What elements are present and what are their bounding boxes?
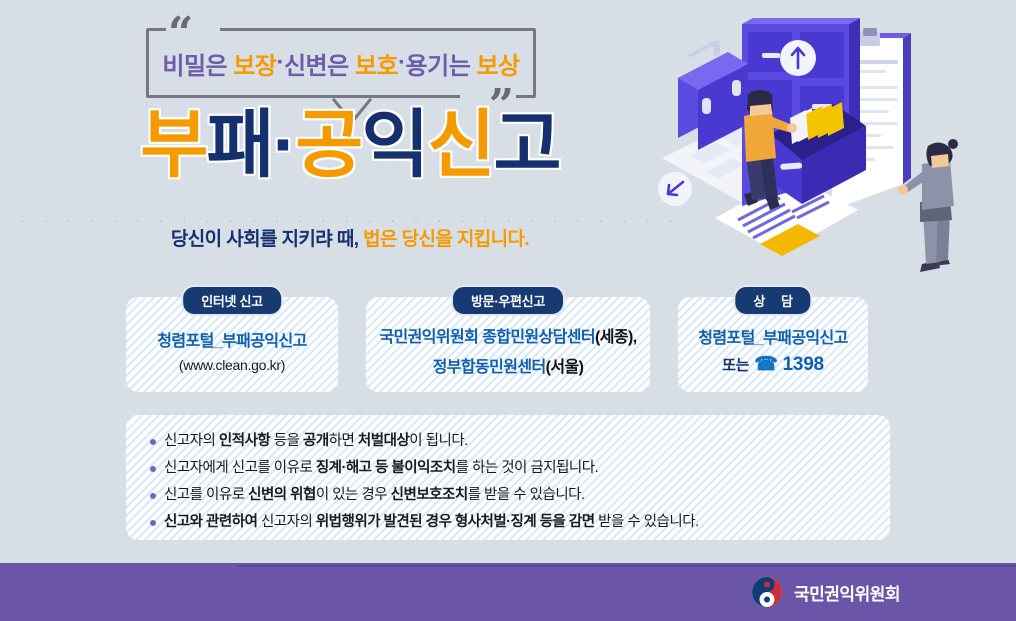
quote-part-7: 보상: [476, 46, 519, 81]
quote-part-5: ·: [398, 49, 406, 77]
quote-part-4: 보호: [355, 46, 398, 81]
card-visit-center-sejong-blue: 국민권익위원회 종합민원상담센터: [379, 329, 595, 346]
notice-panel: 신고자의 인적사항 등을 공개하면 처벌대상이 됩니다. 신고자에게 신고를 이…: [126, 415, 890, 540]
list-item: 신고자에게 신고를 이유로 징계·해고 등 불이익조치를 하는 것이 금지됩니다…: [150, 458, 890, 479]
down-left-arrow-badge-icon: [658, 172, 692, 206]
telephone-icon: ☎: [754, 355, 777, 374]
title-seg-2: ·: [273, 103, 296, 186]
bullet-dot-icon: [150, 466, 156, 472]
quote-part-0: 비밀은: [162, 46, 227, 81]
card-consultation-tel-prefix: 또는: [722, 354, 749, 375]
footer-brand-name: 국민권익위원회: [794, 580, 900, 605]
card-internet-url[interactable]: (www.clean.go.kr): [179, 357, 285, 373]
notice-text-0: 신고자의 인적사항 등을 공개하면 처벌대상이 됩니다.: [164, 431, 468, 452]
list-item: 신고를 이유로 신변의 위협이 있는 경우 신변보호조치를 받을 수 있습니다.: [150, 485, 890, 506]
quote-part-2: ·: [276, 49, 284, 77]
card-internet-report[interactable]: 인터넷 신고 청렴포털_부패공익신고 (www.clean.go.kr): [126, 297, 338, 392]
card-body-consultation: 청렴포털_부패공익신고 또는 ☎ 1398: [678, 297, 868, 392]
card-visit-center-sejong: 국민권익위원회 종합민원상담센터(세종),: [379, 323, 636, 347]
card-internet-portal-name[interactable]: 청렴포털_부패공익신고: [157, 327, 307, 351]
card-body-internet: 청렴포털_부패공익신고 (www.clean.go.kr): [126, 297, 338, 392]
title-seg-1: 패: [206, 103, 272, 186]
card-visit-mail-report[interactable]: 방문·우편신고 국민권익위원회 종합민원상담센터(세종), 정부합동민원센터(서…: [366, 297, 650, 392]
footer-divider: [237, 565, 1016, 567]
taegeuk-logo-icon: [751, 576, 783, 608]
quote-part-6: 용기는: [406, 46, 471, 81]
infographic-canvas: “ ” 비밀은 보장·신변은 보호·용기는 보상 부패·공익신고 · · · ·…: [0, 0, 1016, 621]
notice-text-1: 신고자에게 신고를 이유로 징계·해고 등 불이익조치를 하는 것이 금지됩니다…: [164, 458, 598, 479]
card-visit-center-seoul-city: (서울): [546, 359, 584, 376]
card-body-visit-mail: 국민권익위원회 종합민원상담센터(세종), 정부합동민원센터(서울): [366, 297, 650, 392]
bullet-dot-icon: [150, 520, 156, 526]
subtitle-navy: 당신이 사회를 지키랴 때,: [171, 229, 359, 250]
page-subtitle: 당신이 사회를 지키랴 때, 법은 당신을 지킵니다.: [0, 224, 700, 251]
card-visit-center-seoul: 정부합동민원센터(서울): [433, 353, 584, 377]
list-item: 신고자의 인적사항 등을 공개하면 처벌대상이 됩니다.: [150, 431, 890, 452]
title-seg-5: 신: [427, 103, 493, 186]
title-seg-6: 고: [494, 103, 560, 186]
title-seg-4: 익: [361, 103, 427, 186]
title-seg-3: 공: [295, 103, 361, 186]
quote-part-3: 신변은: [284, 46, 349, 81]
list-item: 신고와 관련하여 신고자의 위법행위가 발견된 경우 형사처벌·징계 등을 감면…: [150, 512, 890, 533]
page-title: 부패·공익신고: [0, 108, 700, 182]
headline-quote-box: “ ” 비밀은 보장·신변은 보호·용기는 보상: [146, 28, 536, 98]
notice-text-3: 신고와 관련하여 신고자의 위법행위가 발견된 경우 형사처벌·징계 등을 감면…: [164, 512, 699, 533]
subtitle-orange: 법은 당신을 지킵니다.: [363, 229, 529, 250]
hero-illustration: [620, 6, 1016, 284]
card-consultation-tel-number[interactable]: 1398: [783, 354, 824, 376]
card-consultation[interactable]: 상 담 청렴포털_부패공익신고 또는 ☎ 1398: [678, 297, 868, 392]
footer-brand[interactable]: 국민권익위원회: [751, 576, 900, 608]
card-visit-center-sejong-city: (세종),: [595, 329, 637, 346]
bullet-dot-icon: [150, 439, 156, 445]
card-consultation-portal-name[interactable]: 청렴포털_부패공익신고: [698, 324, 848, 348]
notice-text-2: 신고를 이유로 신변의 위협이 있는 경우 신변보호조치를 받을 수 있습니다.: [164, 485, 585, 506]
notice-list: 신고자의 인적사항 등을 공개하면 처벌대상이 됩니다. 신고자에게 신고를 이…: [126, 415, 890, 533]
card-consultation-tel-row[interactable]: 또는 ☎ 1398: [722, 354, 823, 376]
bullet-dot-icon: [150, 493, 156, 499]
quote-part-1: 보장: [233, 46, 276, 81]
quote-text: 비밀은 보장·신변은 보호·용기는 보상: [146, 28, 536, 98]
title-seg-0: 부: [140, 103, 206, 186]
page-footer: 국민권익위원회: [0, 563, 1016, 621]
card-visit-center-seoul-blue: 정부합동민원센터: [433, 359, 546, 376]
up-arrow-badge-icon: [780, 40, 816, 76]
